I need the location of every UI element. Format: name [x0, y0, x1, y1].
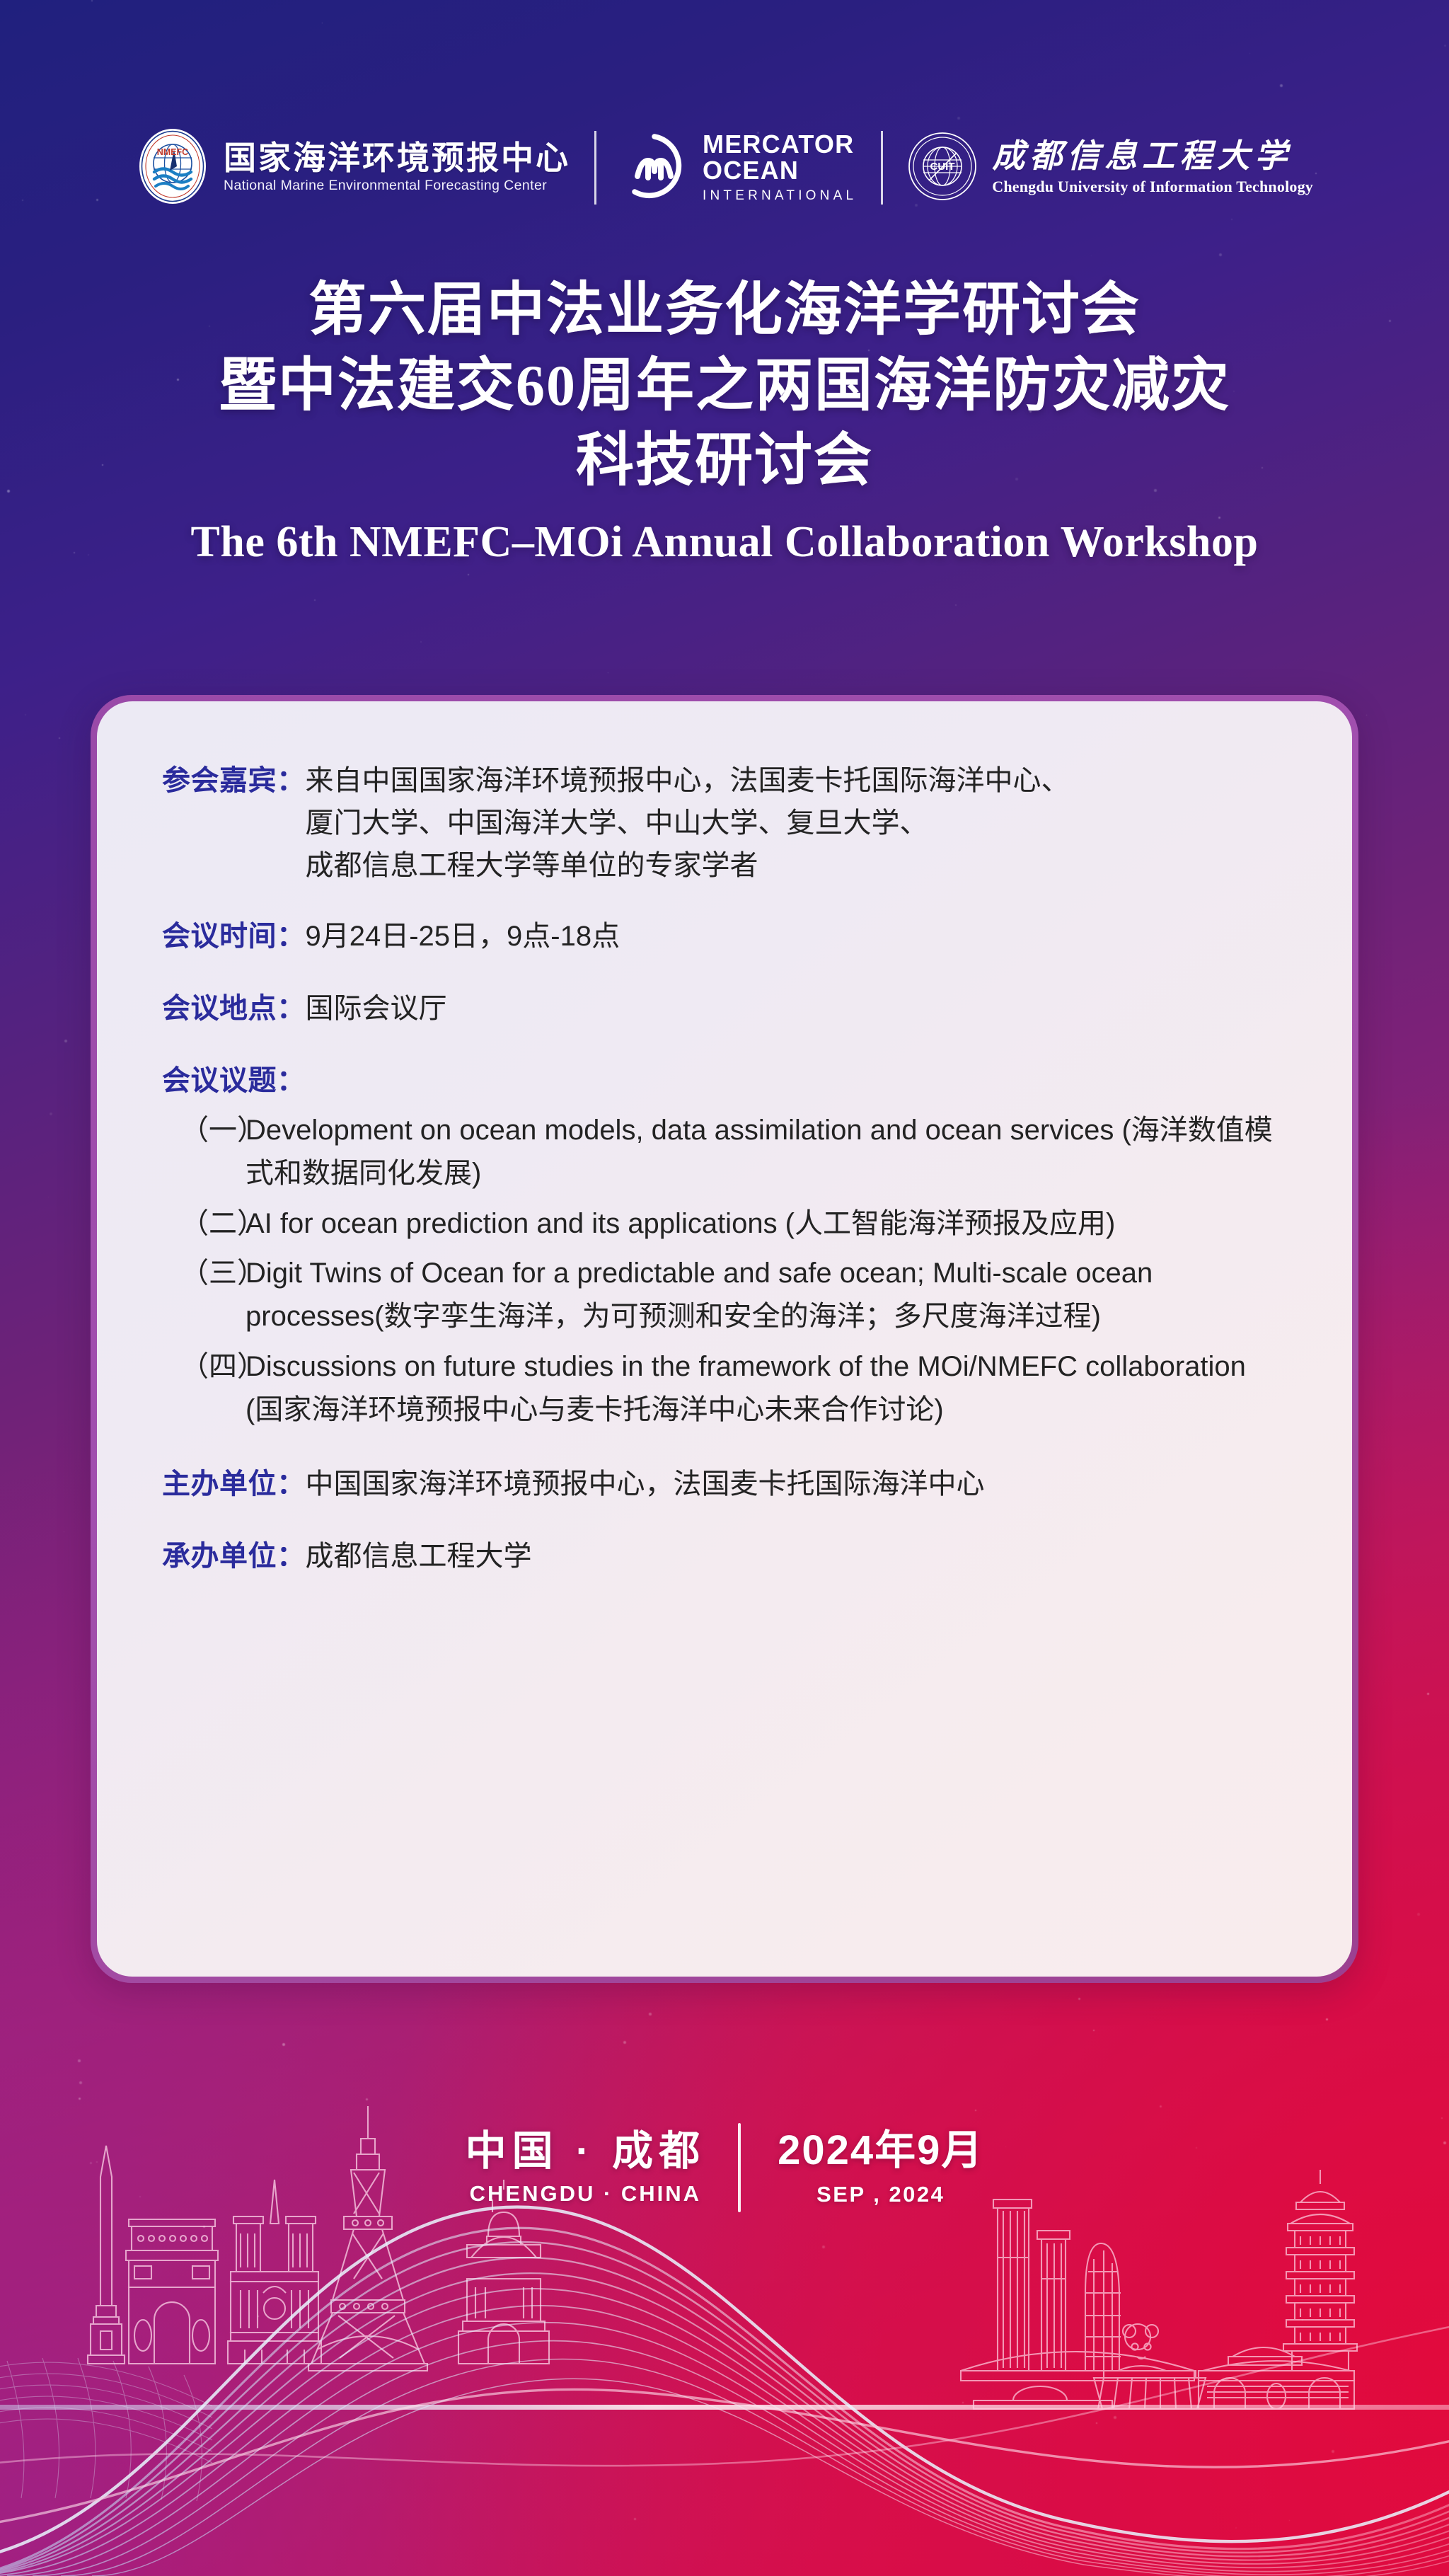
title-cn-line1: 第六届中法业务化海洋学研讨会	[0, 272, 1449, 348]
title-cn-line3: 科技研讨会	[0, 423, 1449, 499]
time-label: 会议时间：	[162, 915, 306, 958]
organizer-label: 主办单位：	[162, 1463, 306, 1505]
topic-4-number: （四）	[162, 1345, 246, 1388]
topic-item-3: （三） Digit Twins of Ocean for a predictab…	[162, 1252, 1287, 1338]
sponsor-logo-bar: NMEFC 国家海洋环境预报中心 National Marine Environ…	[0, 122, 1449, 214]
participants-line-3: 成都信息工程大学等单位的专家学者	[306, 844, 1070, 887]
topic-item-2: （二） AI for ocean prediction and its appl…	[162, 1202, 1287, 1246]
mercator-ocean-logo-icon	[620, 132, 688, 204]
nmefc-seal-icon: NMEFC	[136, 127, 209, 209]
spacer-2	[162, 958, 1287, 987]
cuit-seal-icon: CUIT	[907, 131, 978, 205]
nmefc-name-cn: 国家海洋环境预报中心	[224, 142, 570, 176]
organizer-row: 主办单位： 中国国家海洋环境预报中心，法国麦卡托国际海洋中心	[162, 1463, 1287, 1505]
details-card-border: 参会嘉宾： 来自中国国家海洋环境预报中心，法国麦卡托国际海洋中心、 厦门大学、中…	[91, 695, 1358, 1983]
topic-3-number: （三）	[162, 1252, 246, 1295]
participants-line-2: 厦门大学、中国海洋大学、中山大学、复旦大学、	[306, 802, 1070, 844]
topic-4-text: Discussions on future studies in the fra…	[246, 1345, 1287, 1432]
svg-text:NMEFC: NMEFC	[157, 147, 188, 157]
footer-date: 2024年9月 SEP , 2024	[741, 2128, 983, 2208]
poster-title-block: 第六届中法业务化海洋学研讨会 暨中法建交60周年之两国海洋防灾减灾 科技研讨会 …	[0, 272, 1449, 568]
footer-city: 中国 · 成都 CHENGDU · CHINA	[466, 2129, 739, 2207]
conference-poster: NMEFC 国家海洋环境预报中心 National Marine Environ…	[0, 0, 1449, 2576]
participants-label: 参会嘉宾：	[162, 759, 306, 802]
skyline-wave-scene	[0, 2038, 1449, 2576]
footer-city-en: CHENGDU · CHINA	[466, 2181, 706, 2207]
logo-cuit: CUIT 成都信息工程大学 Chengdu University of Info…	[883, 127, 1337, 209]
topic-item-1: （一） Development on ocean models, data as…	[162, 1109, 1287, 1195]
topic-3-text: Digit Twins of Ocean for a predictable a…	[246, 1252, 1287, 1338]
title-en: The 6th NMEFC–MOi Annual Collaboration W…	[0, 517, 1449, 568]
footer-date-en: SEP , 2024	[778, 2182, 983, 2207]
time-value: 9月24日-25日，9点-18点	[306, 915, 620, 958]
nmefc-name-en: National Marine Environmental Forecastin…	[224, 178, 570, 194]
co-organizer-row: 承办单位： 成都信息工程大学	[162, 1535, 1287, 1577]
time-row: 会议时间： 9月24日-25日，9点-18点	[162, 915, 1287, 958]
svg-text:CUIT: CUIT	[930, 161, 955, 173]
co-organizer-value: 成都信息工程大学	[306, 1535, 532, 1577]
spacer-1	[162, 887, 1287, 915]
topic-2-number: （二）	[162, 1202, 246, 1246]
footer-block: 中国 · 成都 CHENGDU · CHINA 2024年9月 SEP , 20…	[0, 2123, 1449, 2212]
venue-row: 会议地点： 国际会议厅	[162, 987, 1287, 1030]
participants-line-1: 来自中国国家海洋环境预报中心，法国麦卡托国际海洋中心、	[306, 759, 1070, 802]
logo-mercator-ocean: MERCATOR OCEAN INTERNATIONAL	[596, 127, 881, 209]
title-cn-line2: 暨中法建交60周年之两国海洋防灾减灾	[0, 348, 1449, 424]
mercator-line2: OCEAN	[703, 158, 857, 184]
cuit-name-en: Chengdu University of Information Techno…	[992, 178, 1313, 196]
spacer-3	[162, 1030, 1287, 1059]
footer-city-cn: 中国 · 成都	[466, 2129, 706, 2175]
topic-item-4: （四） Discussions on future studies in the…	[162, 1345, 1287, 1432]
participants-value: 来自中国国家海洋环境预报中心，法国麦卡托国际海洋中心、 厦门大学、中国海洋大学、…	[306, 759, 1070, 887]
venue-value: 国际会议厅	[306, 987, 447, 1030]
footer-date-cn: 2024年9月	[778, 2128, 983, 2174]
organizer-value: 中国国家海洋环境预报中心，法国麦卡托国际海洋中心	[306, 1463, 985, 1505]
venue-label: 会议地点：	[162, 987, 306, 1030]
details-card: 参会嘉宾： 来自中国国家海洋环境预报中心，法国麦卡托国际海洋中心、 厦门大学、中…	[97, 701, 1352, 1977]
co-organizer-label: 承办单位：	[162, 1535, 306, 1577]
topic-2-text: AI for ocean prediction and its applicat…	[246, 1202, 1287, 1246]
mercator-line1: MERCATOR	[703, 132, 857, 158]
logo-nmefc: NMEFC 国家海洋环境预报中心 National Marine Environ…	[112, 127, 594, 209]
participants-row: 参会嘉宾： 来自中国国家海洋环境预报中心，法国麦卡托国际海洋中心、 厦门大学、中…	[162, 759, 1287, 887]
topic-1-number: （一）	[162, 1109, 246, 1152]
topics-label: 会议议题：	[162, 1059, 1287, 1102]
cuit-name-cn: 成都信息工程大学	[992, 139, 1313, 173]
topic-1-text: Development on ocean models, data assimi…	[246, 1109, 1287, 1195]
mercator-line3: INTERNATIONAL	[703, 188, 857, 204]
spacer-5	[162, 1505, 1287, 1535]
spacer-4	[162, 1432, 1287, 1463]
